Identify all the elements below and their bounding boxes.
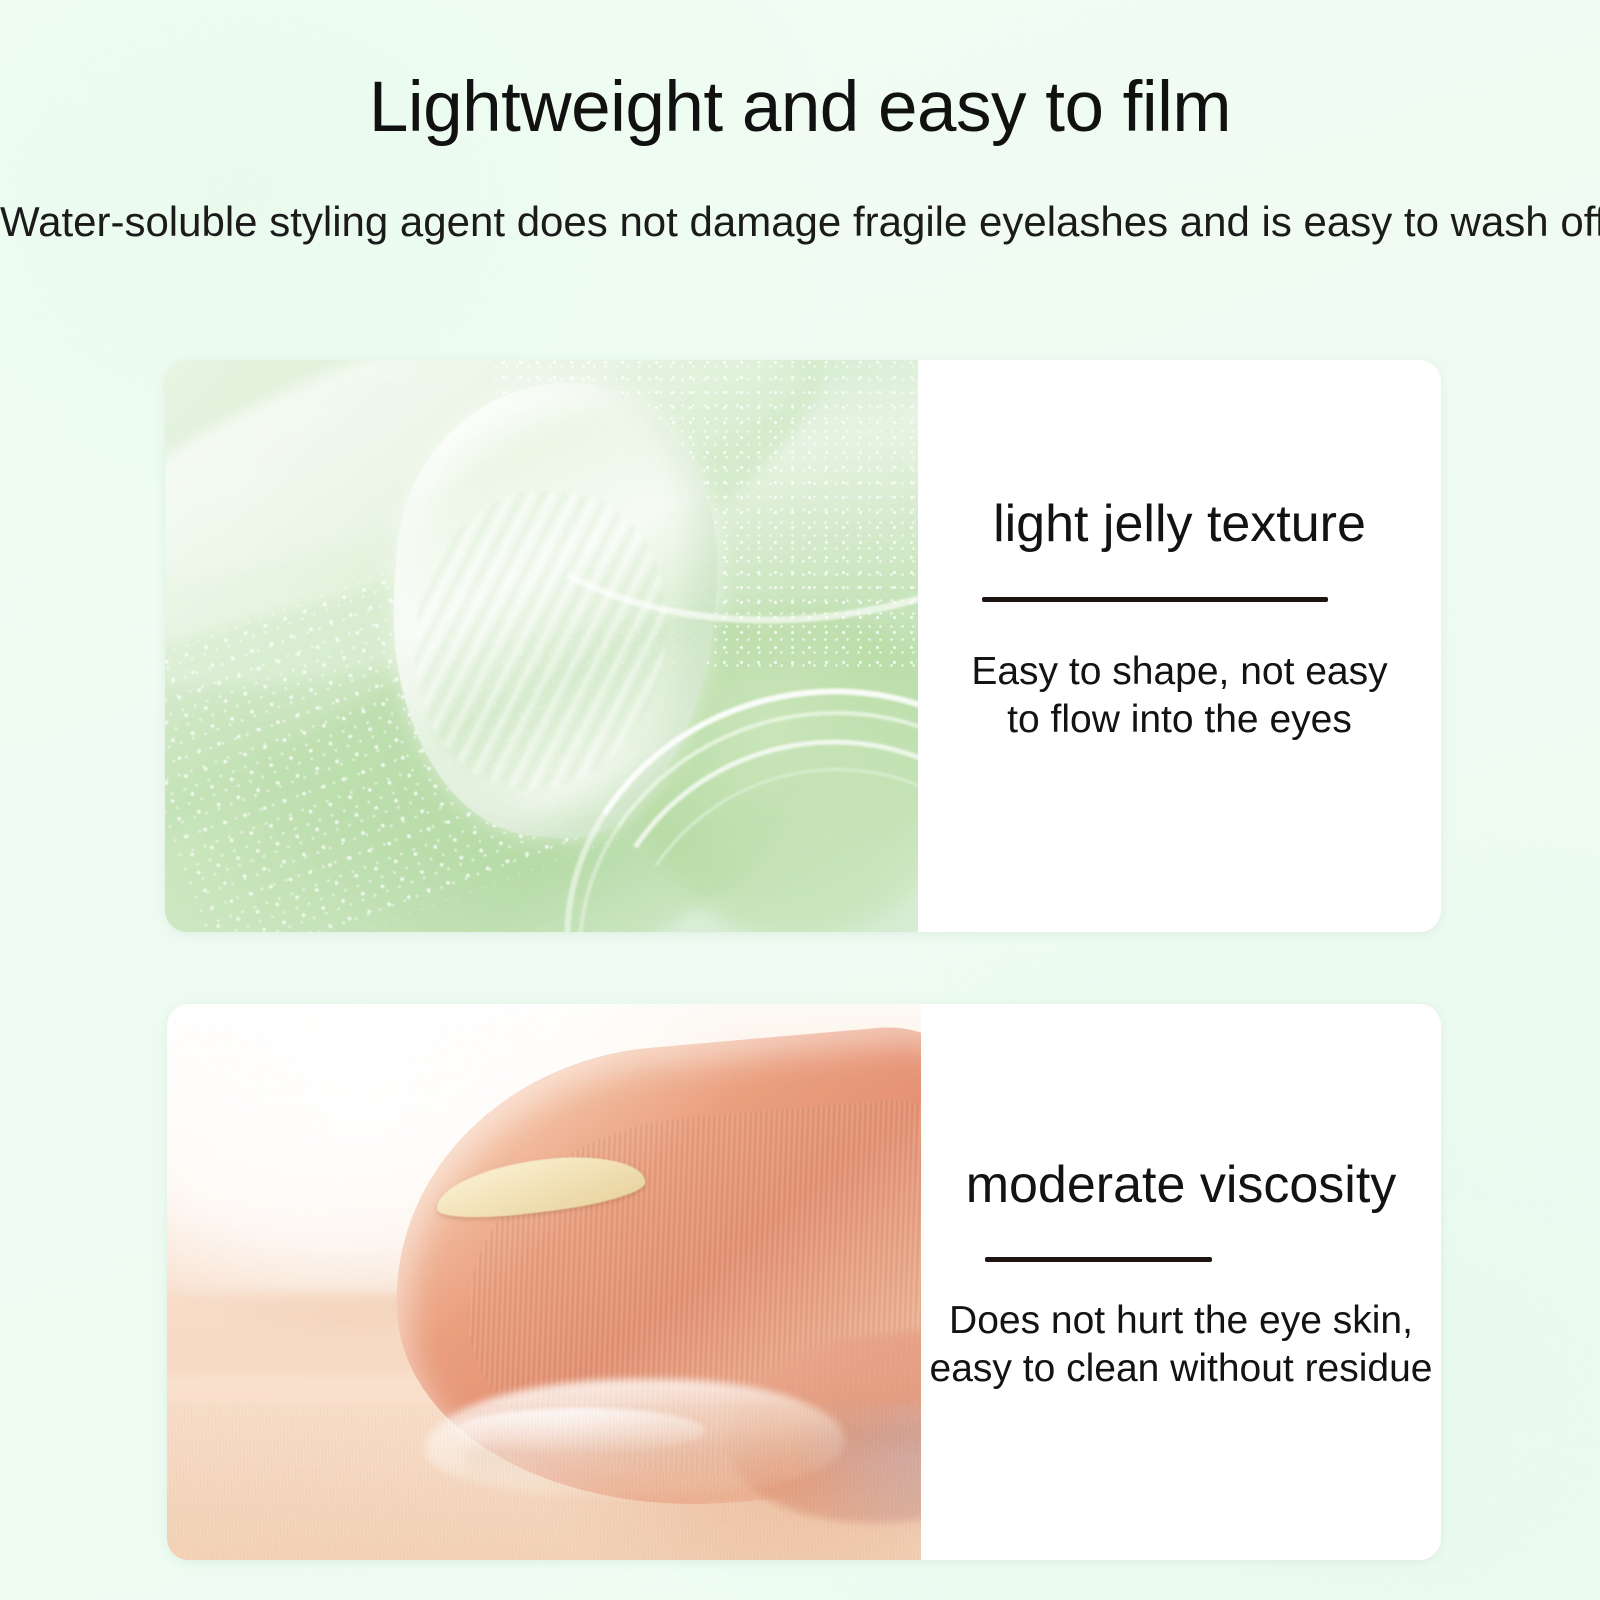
feature-heading: light jelly texture bbox=[918, 498, 1441, 550]
feature-description: Does not hurt the eye skin, easy to clea… bbox=[911, 1297, 1441, 1392]
page-subtitle: Water-soluble styling agent does not dam… bbox=[0, 199, 1600, 245]
feature-description: Easy to shape, not easy to flow into the… bbox=[908, 648, 1441, 743]
heading-divider bbox=[982, 597, 1328, 602]
skin-fine-texture bbox=[167, 1404, 921, 1560]
heading-divider bbox=[985, 1257, 1212, 1262]
page-title: Lightweight and easy to film bbox=[0, 72, 1600, 143]
feature-card-moderate-viscosity: moderate viscosity Does not hurt the eye… bbox=[167, 1004, 1441, 1560]
finger-skin-photo bbox=[167, 1004, 921, 1560]
gel-vignette bbox=[165, 360, 918, 932]
feature-card-body: light jelly texture Easy to shape, not e… bbox=[918, 360, 1441, 932]
feature-card-body: moderate viscosity Does not hurt the eye… bbox=[921, 1004, 1441, 1560]
feature-heading: moderate viscosity bbox=[921, 1159, 1441, 1211]
feature-card-jelly-texture: light jelly texture Easy to shape, not e… bbox=[165, 360, 1441, 932]
gel-texture-photo bbox=[165, 360, 918, 932]
